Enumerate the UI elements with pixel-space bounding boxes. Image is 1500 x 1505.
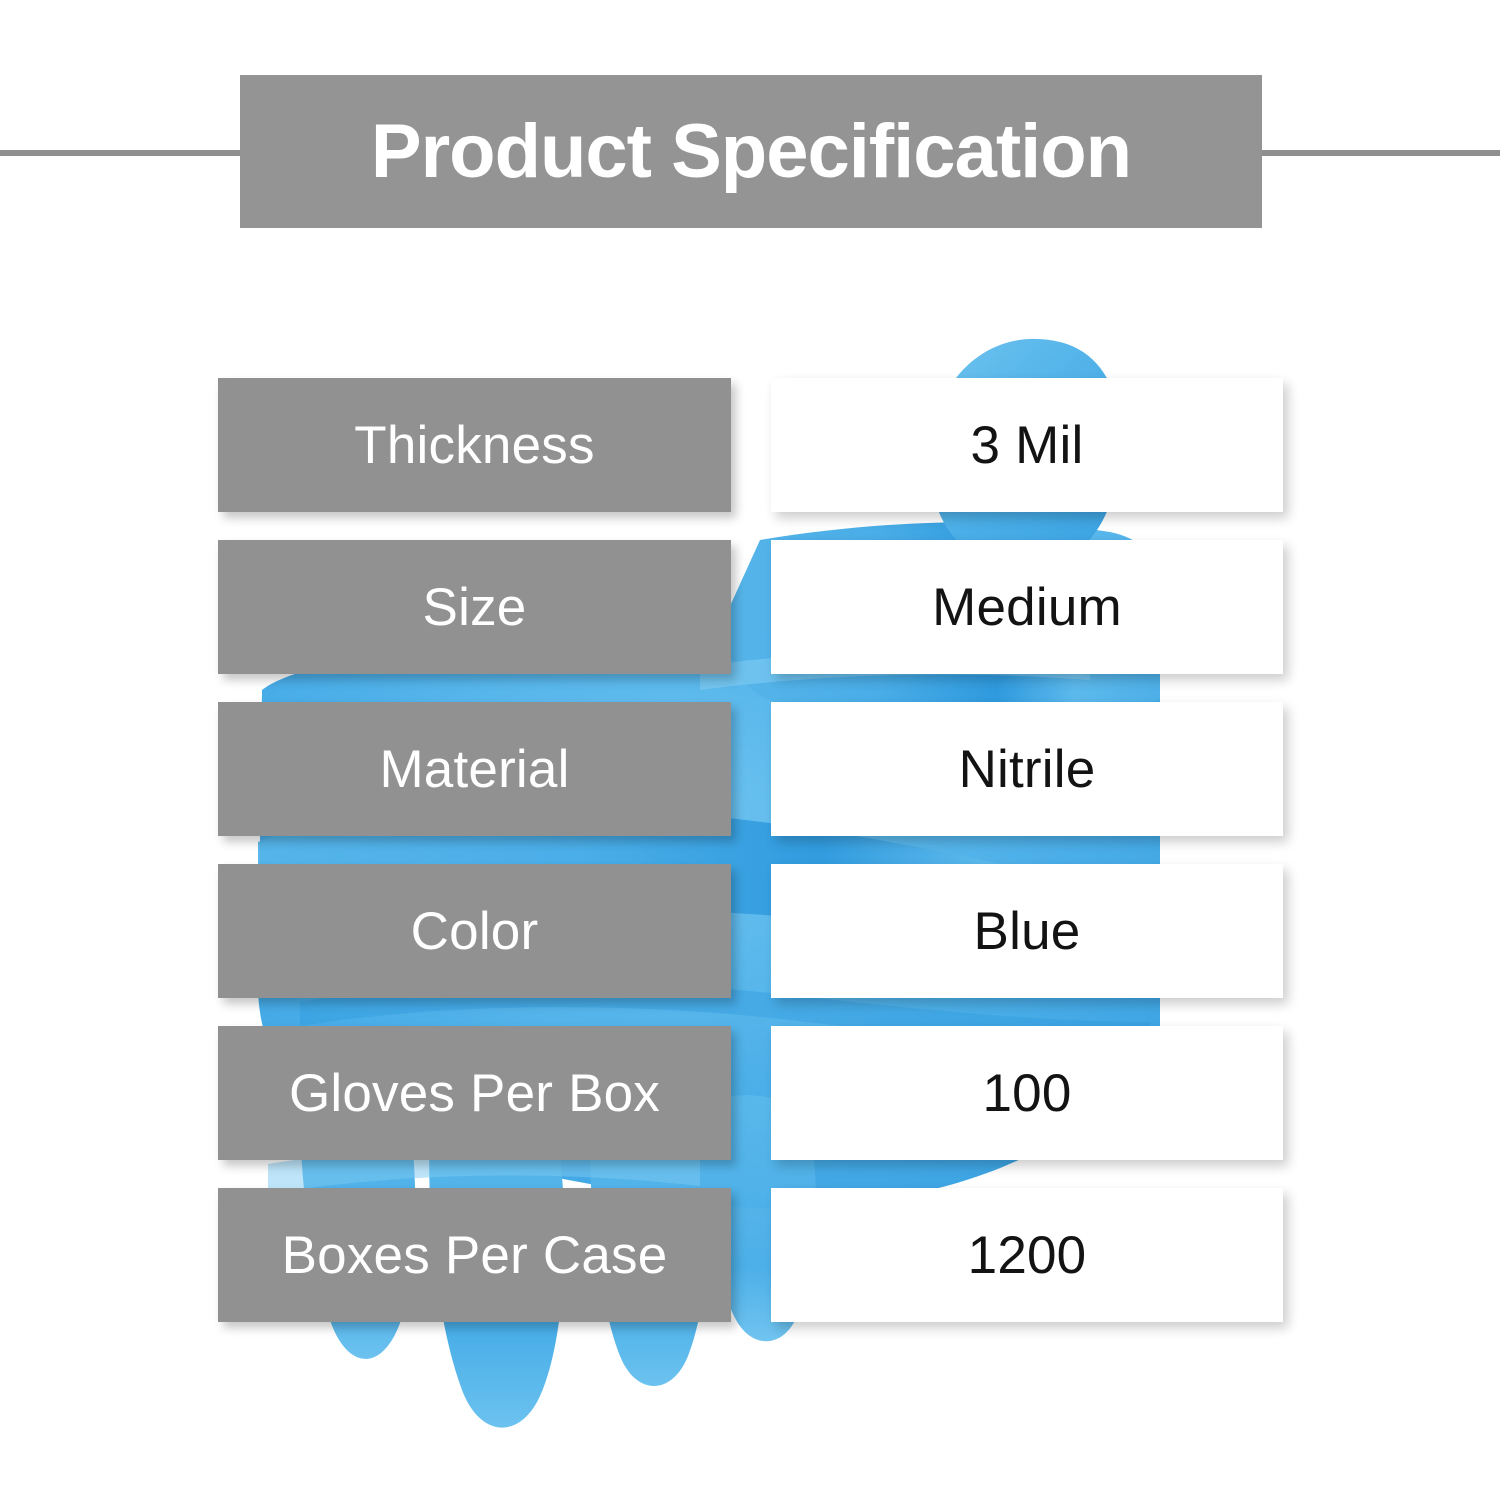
- spec-value-cell: 100: [771, 1026, 1283, 1160]
- spec-value-text: 1200: [968, 1225, 1087, 1286]
- spec-label-cell: Boxes Per Case: [218, 1188, 731, 1322]
- spec-value-text: Blue: [974, 901, 1081, 962]
- table-row: Gloves Per Box 100: [0, 1026, 1500, 1160]
- table-row: Boxes Per Case 1200: [0, 1188, 1500, 1322]
- spec-value-text: 3 Mil: [971, 415, 1084, 476]
- spec-value-cell: 1200: [771, 1188, 1283, 1322]
- spec-value-text: 100: [982, 1063, 1071, 1124]
- spec-value-text: Medium: [932, 577, 1122, 638]
- spec-label-text: Boxes Per Case: [282, 1225, 668, 1286]
- table-row: Color Blue: [0, 864, 1500, 998]
- spec-value-cell: Medium: [771, 540, 1283, 674]
- spec-label-cell: Color: [218, 864, 731, 998]
- product-specification-table: Thickness 3 Mil Size Medium Material Nit…: [0, 0, 1500, 1500]
- table-row: Material Nitrile: [0, 702, 1500, 836]
- spec-value-cell: 3 Mil: [771, 378, 1283, 512]
- spec-label-text: Color: [411, 901, 539, 962]
- spec-label-text: Material: [379, 739, 569, 800]
- spec-label-cell: Thickness: [218, 378, 731, 512]
- table-row: Size Medium: [0, 540, 1500, 674]
- spec-label-cell: Size: [218, 540, 731, 674]
- spec-label-text: Size: [423, 577, 527, 638]
- spec-label-cell: Material: [218, 702, 731, 836]
- spec-value-text: Nitrile: [959, 739, 1096, 800]
- table-row: Thickness 3 Mil: [0, 378, 1500, 512]
- spec-label-cell: Gloves Per Box: [218, 1026, 731, 1160]
- spec-label-text: Thickness: [354, 415, 594, 476]
- spec-value-cell: Blue: [771, 864, 1283, 998]
- spec-value-cell: Nitrile: [771, 702, 1283, 836]
- spec-label-text: Gloves Per Box: [289, 1063, 660, 1124]
